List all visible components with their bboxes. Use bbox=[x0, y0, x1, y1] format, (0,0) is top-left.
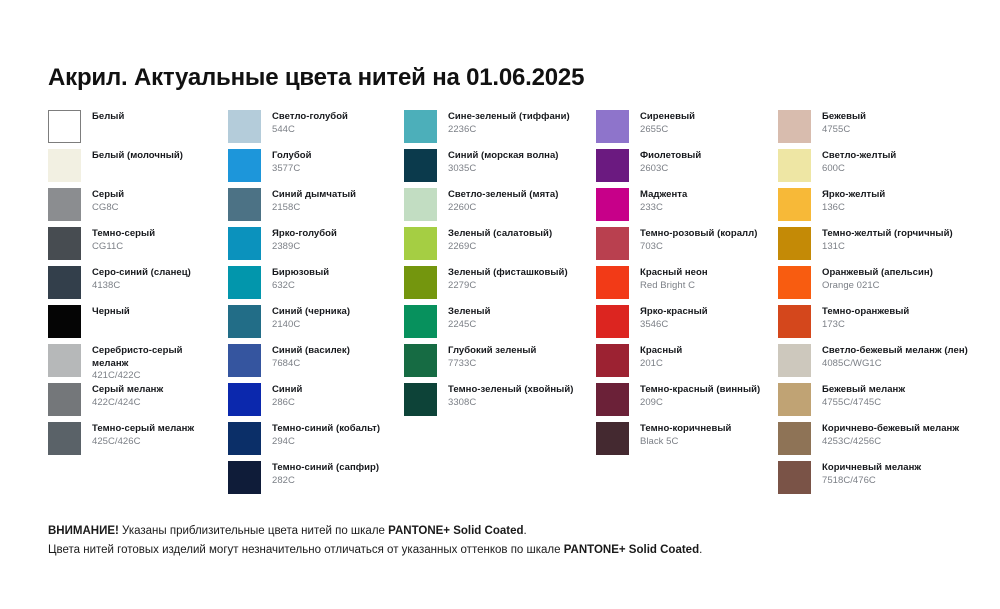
swatch-name: Фиолетовый bbox=[640, 150, 701, 163]
swatch-pantone-code: 4755C bbox=[822, 124, 866, 137]
swatch-name: Бежевый меланж bbox=[822, 384, 905, 397]
swatch-name: Ярко-голубой bbox=[272, 228, 337, 241]
swatch-name: Зеленый (фисташковый) bbox=[448, 267, 568, 280]
swatch-row[interactable]: Серо-синий (сланец)4138C bbox=[48, 266, 228, 305]
swatch-row[interactable]: Темно-серый меланж425C/426C bbox=[48, 422, 228, 461]
swatch-text: Синий дымчатый2158C bbox=[272, 188, 356, 214]
swatch-row[interactable]: Красный неонRed Bright C bbox=[596, 266, 778, 305]
color-chip[interactable] bbox=[596, 266, 629, 299]
swatch-name: Синий дымчатый bbox=[272, 189, 356, 202]
swatch-name: Темно-оранжевый bbox=[822, 306, 909, 319]
swatch-row[interactable]: Бирюзовый632C bbox=[228, 266, 404, 305]
swatch-text: Темно-желтый (горчичный)131C bbox=[822, 227, 953, 253]
swatch-row[interactable]: Голубой3577C bbox=[228, 149, 404, 188]
color-chip[interactable] bbox=[228, 149, 261, 182]
column-greens: Сине-зеленый (тиффани)2236CСиний (морска… bbox=[404, 110, 596, 422]
swatch-text: Черный bbox=[92, 305, 130, 319]
color-chip[interactable] bbox=[48, 149, 81, 182]
swatch-row[interactable]: Сине-зеленый (тиффани)2236C bbox=[404, 110, 596, 149]
swatch-text: Коричневый меланж7518C/476C bbox=[822, 461, 921, 487]
swatch-pantone-code: 2158C bbox=[272, 202, 356, 215]
color-chip[interactable] bbox=[48, 266, 81, 299]
swatch-name: Красный неон bbox=[640, 267, 708, 280]
swatch-pantone-code: CG8C bbox=[92, 202, 124, 215]
swatch-text: Темно-серый меланж425C/426C bbox=[92, 422, 194, 448]
swatch-text: Ярко-голубой2389C bbox=[272, 227, 337, 253]
swatch-row[interactable]: Коричневый меланж7518C/476C bbox=[778, 461, 988, 500]
swatch-row[interactable]: Бежевый меланж4755C/4745C bbox=[778, 383, 988, 422]
swatch-name: Серый bbox=[92, 189, 124, 202]
color-chip[interactable] bbox=[404, 110, 437, 143]
swatch-name: Темно-синий (сапфир) bbox=[272, 462, 379, 475]
swatch-row[interactable]: Красный201C bbox=[596, 344, 778, 383]
color-chip[interactable] bbox=[48, 305, 81, 338]
swatch-name: Коричневый меланж bbox=[822, 462, 921, 475]
swatch-pantone-code: 2655C bbox=[640, 124, 695, 137]
color-chip[interactable] bbox=[596, 344, 629, 377]
swatch-pantone-code: 544C bbox=[272, 124, 348, 137]
swatch-row[interactable]: СерыйCG8C bbox=[48, 188, 228, 227]
swatch-text: Белый (молочный) bbox=[92, 149, 183, 163]
swatch-text: Синий (черника)2140C bbox=[272, 305, 350, 331]
swatch-row[interactable]: Темно-желтый (горчичный)131C bbox=[778, 227, 988, 266]
color-chip[interactable] bbox=[48, 422, 81, 455]
color-chip[interactable] bbox=[778, 110, 811, 143]
swatch-name: Темно-желтый (горчичный) bbox=[822, 228, 953, 241]
swatch-pantone-code: Red Bright C bbox=[640, 280, 708, 293]
disclaimer-line-1-text: Указаны приблизительные цвета нитей по ш… bbox=[119, 525, 388, 537]
color-chip[interactable] bbox=[778, 149, 811, 182]
swatch-text: Белый bbox=[92, 110, 124, 124]
swatch-row[interactable]: Ярко-желтый136C bbox=[778, 188, 988, 227]
color-chip[interactable] bbox=[778, 422, 811, 455]
swatch-text: Бежевый меланж4755C/4745C bbox=[822, 383, 905, 409]
swatch-pantone-code: 421C/422C bbox=[92, 370, 183, 383]
color-chip[interactable] bbox=[778, 344, 811, 377]
swatch-row[interactable]: Темно-серыйCG11C bbox=[48, 227, 228, 266]
color-chip[interactable] bbox=[596, 188, 629, 221]
swatch-pantone-code: 4253C/4256C bbox=[822, 436, 959, 449]
swatch-name: Сине-зеленый (тиффани) bbox=[448, 111, 570, 124]
column-purples-reds: Сиреневый2655CФиолетовый2603CМаджента233… bbox=[596, 110, 778, 461]
swatch-row[interactable]: Темно-оранжевый173C bbox=[778, 305, 988, 344]
disclaimer-line-2-text: Цвета нитей готовых изделий могут незнач… bbox=[48, 544, 564, 556]
swatch-name: Темно-синий (кобальт) bbox=[272, 423, 380, 436]
swatch-text: Темно-серыйCG11C bbox=[92, 227, 155, 253]
color-chip[interactable] bbox=[778, 383, 811, 416]
swatch-name: Синий bbox=[272, 384, 302, 397]
swatch-pantone-code: 703C bbox=[640, 241, 757, 254]
color-chip[interactable] bbox=[778, 227, 811, 260]
swatch-pantone-code: 2236C bbox=[448, 124, 570, 137]
swatch-text: Темно-красный (винный)209C bbox=[640, 383, 760, 409]
color-chip[interactable] bbox=[404, 383, 437, 416]
swatch-text: Темно-оранжевый173C bbox=[822, 305, 909, 331]
swatch-name: Синий (морская волна) bbox=[448, 150, 559, 163]
color-chip[interactable] bbox=[48, 344, 81, 377]
color-chip[interactable] bbox=[778, 266, 811, 299]
column-blues: Светло-голубой544CГолубой3577CСиний дымч… bbox=[228, 110, 404, 500]
swatch-text: Ярко-желтый136C bbox=[822, 188, 885, 214]
color-chip[interactable] bbox=[228, 266, 261, 299]
swatch-text: Зеленый2245C bbox=[448, 305, 490, 331]
swatch-pantone-code: 4755C/4745C bbox=[822, 397, 905, 410]
swatch-name: Коричнево-бежевый меланж bbox=[822, 423, 959, 436]
color-chip[interactable] bbox=[228, 110, 261, 143]
swatch-pantone-code: 422C/424C bbox=[92, 397, 163, 410]
swatch-row[interactable]: Темно-синий (сапфир)282C bbox=[228, 461, 404, 500]
color-chip[interactable] bbox=[228, 305, 261, 338]
swatch-text: Глубокий зеленый7733C bbox=[448, 344, 536, 370]
swatch-pantone-code: 201C bbox=[640, 358, 682, 371]
swatch-pantone-code: Black 5C bbox=[640, 436, 731, 449]
swatch-row[interactable]: Ярко-голубой2389C bbox=[228, 227, 404, 266]
color-chip[interactable] bbox=[228, 461, 261, 494]
swatch-row[interactable]: Синий286C bbox=[228, 383, 404, 422]
swatch-row[interactable]: Белый (молочный) bbox=[48, 149, 228, 188]
swatch-row[interactable]: Ярко-красный3546C bbox=[596, 305, 778, 344]
color-chip[interactable] bbox=[404, 305, 437, 338]
swatch-text: Светло-бежевый меланж (лен)4085C/WG1C bbox=[822, 344, 968, 370]
swatch-pantone-code: 173C bbox=[822, 319, 909, 332]
color-chip[interactable] bbox=[48, 383, 81, 416]
swatch-name: Зеленый bbox=[448, 306, 490, 319]
swatch-text: Зеленый (фисташковый)2279C bbox=[448, 266, 568, 292]
swatch-name: Ярко-желтый bbox=[822, 189, 885, 202]
swatch-pantone-code: 425C/426C bbox=[92, 436, 194, 449]
swatch-text: Бирюзовый632C bbox=[272, 266, 329, 292]
swatch-text: Красный201C bbox=[640, 344, 682, 370]
swatch-row[interactable]: Фиолетовый2603C bbox=[596, 149, 778, 188]
swatch-pantone-code: 2260C bbox=[448, 202, 558, 215]
swatch-text: Сине-зеленый (тиффани)2236C bbox=[448, 110, 570, 136]
swatch-name: Черный bbox=[92, 306, 130, 319]
swatch-text: Светло-желтый600C bbox=[822, 149, 896, 175]
attention-label: ВНИМАНИЕ! bbox=[48, 525, 119, 537]
color-chip[interactable] bbox=[596, 110, 629, 143]
swatch-row[interactable]: Зеленый (фисташковый)2279C bbox=[404, 266, 596, 305]
swatch-name: Глубокий зеленый bbox=[448, 345, 536, 358]
swatch-name: Темно-коричневый bbox=[640, 423, 731, 436]
swatch-row[interactable]: Сиреневый2655C bbox=[596, 110, 778, 149]
swatch-pantone-code: 2245C bbox=[448, 319, 490, 332]
swatch-row[interactable]: Серебристо-серый меланж421C/422C bbox=[48, 344, 228, 383]
color-chip[interactable] bbox=[48, 227, 81, 260]
swatch-name: Бирюзовый bbox=[272, 267, 329, 280]
swatch-pantone-code: 294C bbox=[272, 436, 380, 449]
swatch-pantone-code: 2140C bbox=[272, 319, 350, 332]
disclaimer-line-1-end: . bbox=[524, 525, 527, 537]
color-chip[interactable] bbox=[596, 305, 629, 338]
swatch-name: Серый меланж bbox=[92, 384, 163, 397]
swatch-name: Голубой bbox=[272, 150, 312, 163]
swatch-name: Маджента bbox=[640, 189, 687, 202]
swatch-pantone-code: 4085C/WG1C bbox=[822, 358, 968, 371]
swatch-row[interactable]: Темно-красный (винный)209C bbox=[596, 383, 778, 422]
swatch-row[interactable]: Светло-голубой544C bbox=[228, 110, 404, 149]
swatch-pantone-code: 2279C bbox=[448, 280, 568, 293]
color-chip[interactable] bbox=[596, 227, 629, 260]
swatch-pantone-code: 2603C bbox=[640, 163, 701, 176]
swatch-pantone-code: 7733C bbox=[448, 358, 536, 371]
disclaimer-line-2-end: . bbox=[699, 544, 702, 556]
swatch-row[interactable]: Оранжевый (апельсин)Orange 021C bbox=[778, 266, 988, 305]
swatch-name: Темно-серый bbox=[92, 228, 155, 241]
disclaimer-line-1: ВНИМАНИЕ! Указаны приблизительные цвета … bbox=[48, 522, 958, 541]
swatch-row[interactable]: Светло-бежевый меланж (лен)4085C/WG1C bbox=[778, 344, 988, 383]
pantone-scale-label-2: PANTONE+ Solid Coated bbox=[564, 544, 699, 556]
swatch-text: Синий (василек)7684C bbox=[272, 344, 350, 370]
swatch-text: Ярко-красный3546C bbox=[640, 305, 708, 331]
swatch-text: Темно-синий (кобальт)294C bbox=[272, 422, 380, 448]
swatch-text: Серый меланж422C/424C bbox=[92, 383, 163, 409]
swatch-text: Темно-розовый (коралл)703C bbox=[640, 227, 757, 253]
swatch-text: Светло-зеленый (мята)2260C bbox=[448, 188, 558, 214]
swatch-name: Темно-серый меланж bbox=[92, 423, 194, 436]
swatch-row[interactable]: Зеленый (салатовый)2269C bbox=[404, 227, 596, 266]
disclaimer-line-2: Цвета нитей готовых изделий могут незнач… bbox=[48, 541, 958, 560]
color-chip[interactable] bbox=[596, 149, 629, 182]
swatch-text: Оранжевый (апельсин)Orange 021C bbox=[822, 266, 933, 292]
swatch-name: Ярко-красный bbox=[640, 306, 708, 319]
swatch-row[interactable]: Темно-коричневыйBlack 5C bbox=[596, 422, 778, 461]
swatch-row[interactable]: Синий (черника)2140C bbox=[228, 305, 404, 344]
swatch-name: Светло-голубой bbox=[272, 111, 348, 124]
swatch-pantone-code: 3546C bbox=[640, 319, 708, 332]
color-chip[interactable] bbox=[778, 461, 811, 494]
color-chip[interactable] bbox=[778, 188, 811, 221]
color-chip[interactable] bbox=[596, 422, 629, 455]
swatch-pantone-code: 4138C bbox=[92, 280, 191, 293]
swatch-name: Синий (черника) bbox=[272, 306, 350, 319]
swatch-text: Фиолетовый2603C bbox=[640, 149, 701, 175]
swatch-text: Коричнево-бежевый меланж4253C/4256C bbox=[822, 422, 959, 448]
swatch-row[interactable]: Темно-зеленый (хвойный)3308C bbox=[404, 383, 596, 422]
swatch-name: Сиреневый bbox=[640, 111, 695, 124]
swatch-pantone-code: 286C bbox=[272, 397, 302, 410]
swatch-name: Синий (василек) bbox=[272, 345, 350, 358]
swatch-text: Светло-голубой544C bbox=[272, 110, 348, 136]
swatch-text: Бежевый4755C bbox=[822, 110, 866, 136]
swatch-name: Светло-зеленый (мята) bbox=[448, 189, 558, 202]
swatch-row[interactable]: Синий (морская волна)3035C bbox=[404, 149, 596, 188]
swatch-text: Серебристо-серый меланж421C/422C bbox=[92, 344, 183, 383]
swatch-row[interactable]: Черный bbox=[48, 305, 228, 344]
color-chip[interactable] bbox=[228, 344, 261, 377]
swatch-name: Светло-бежевый меланж (лен) bbox=[822, 345, 968, 358]
swatch-row[interactable]: Синий (василек)7684C bbox=[228, 344, 404, 383]
swatch-pantone-code: 3035C bbox=[448, 163, 559, 176]
swatch-text: Зеленый (салатовый)2269C bbox=[448, 227, 552, 253]
swatch-text: Серо-синий (сланец)4138C bbox=[92, 266, 191, 292]
column-warm-neutrals: Бежевый4755CСветло-желтый600CЯрко-желтый… bbox=[778, 110, 988, 500]
swatch-row[interactable]: Синий дымчатый2158C bbox=[228, 188, 404, 227]
swatch-text: Голубой3577C bbox=[272, 149, 312, 175]
swatch-pantone-code: 3308C bbox=[448, 397, 573, 410]
color-chip[interactable] bbox=[404, 188, 437, 221]
swatch-row[interactable]: Маджента233C bbox=[596, 188, 778, 227]
swatch-row[interactable]: Темно-синий (кобальт)294C bbox=[228, 422, 404, 461]
swatch-name: Темно-розовый (коралл) bbox=[640, 228, 757, 241]
swatch-pantone-code: 2389C bbox=[272, 241, 337, 254]
color-chip[interactable] bbox=[48, 188, 81, 221]
disclaimer-note: ВНИМАНИЕ! Указаны приблизительные цвета … bbox=[48, 522, 958, 560]
swatch-text: СерыйCG8C bbox=[92, 188, 124, 214]
swatch-text: Синий (морская волна)3035C bbox=[448, 149, 559, 175]
color-chip[interactable] bbox=[228, 422, 261, 455]
swatch-row[interactable]: Коричнево-бежевый меланж4253C/4256C bbox=[778, 422, 988, 461]
swatch-text: Синий286C bbox=[272, 383, 302, 409]
swatch-pantone-code: CG11C bbox=[92, 241, 155, 254]
swatch-text: Темно-синий (сапфир)282C bbox=[272, 461, 379, 487]
color-chip[interactable] bbox=[228, 188, 261, 221]
swatch-row[interactable]: Бежевый4755C bbox=[778, 110, 988, 149]
color-chip[interactable] bbox=[228, 383, 261, 416]
swatch-text: Темно-зеленый (хвойный)3308C bbox=[448, 383, 573, 409]
swatch-pantone-code: 600C bbox=[822, 163, 896, 176]
swatch-row[interactable]: Светло-желтый600C bbox=[778, 149, 988, 188]
color-chip[interactable] bbox=[778, 305, 811, 338]
swatch-name: Белый bbox=[92, 111, 124, 124]
swatch-row[interactable]: Серый меланж422C/424C bbox=[48, 383, 228, 422]
pantone-scale-label-1: PANTONE+ Solid Coated bbox=[388, 525, 523, 537]
swatch-name: Серебристо-серый меланж bbox=[92, 345, 183, 370]
swatch-name: Темно-зеленый (хвойный) bbox=[448, 384, 573, 397]
color-chip[interactable] bbox=[404, 266, 437, 299]
swatch-text: Темно-коричневыйBlack 5C bbox=[640, 422, 731, 448]
swatch-text: Сиреневый2655C bbox=[640, 110, 695, 136]
swatch-pantone-code: 7518C/476C bbox=[822, 475, 921, 488]
swatch-row[interactable]: Темно-розовый (коралл)703C bbox=[596, 227, 778, 266]
swatch-name: Бежевый bbox=[822, 111, 866, 124]
swatch-name: Светло-желтый bbox=[822, 150, 896, 163]
swatch-row[interactable]: Светло-зеленый (мята)2260C bbox=[404, 188, 596, 227]
color-chip[interactable] bbox=[228, 227, 261, 260]
swatch-pantone-code: Orange 021C bbox=[822, 280, 933, 293]
swatch-pantone-code: 3577C bbox=[272, 163, 312, 176]
swatch-pantone-code: 632C bbox=[272, 280, 329, 293]
swatch-name: Серо-синий (сланец) bbox=[92, 267, 191, 280]
swatch-pantone-code: 136C bbox=[822, 202, 885, 215]
color-chip[interactable] bbox=[404, 344, 437, 377]
swatch-name: Зеленый (салатовый) bbox=[448, 228, 552, 241]
swatch-pantone-code: 7684C bbox=[272, 358, 350, 371]
color-chip[interactable] bbox=[404, 149, 437, 182]
swatch-name: Темно-красный (винный) bbox=[640, 384, 760, 397]
column-neutrals: БелыйБелый (молочный)СерыйCG8CТемно-серы… bbox=[48, 110, 228, 461]
swatch-name: Красный bbox=[640, 345, 682, 358]
color-swatch-grid: БелыйБелый (молочный)СерыйCG8CТемно-серы… bbox=[0, 110, 1000, 500]
color-chip[interactable] bbox=[596, 383, 629, 416]
swatch-pantone-code: 209C bbox=[640, 397, 760, 410]
swatch-text: Маджента233C bbox=[640, 188, 687, 214]
swatch-row[interactable]: Зеленый2245C bbox=[404, 305, 596, 344]
swatch-pantone-code: 2269C bbox=[448, 241, 552, 254]
page-title: Акрил. Актуальные цвета нитей на 01.06.2… bbox=[48, 64, 584, 92]
swatch-name: Белый (молочный) bbox=[92, 150, 183, 163]
color-chip[interactable] bbox=[404, 227, 437, 260]
swatch-text: Красный неонRed Bright C bbox=[640, 266, 708, 292]
swatch-pantone-code: 282C bbox=[272, 475, 379, 488]
swatch-row[interactable]: Глубокий зеленый7733C bbox=[404, 344, 596, 383]
swatch-pantone-code: 233C bbox=[640, 202, 687, 215]
swatch-pantone-code: 131C bbox=[822, 241, 953, 254]
swatch-name: Оранжевый (апельсин) bbox=[822, 267, 933, 280]
color-chip[interactable] bbox=[48, 110, 81, 143]
swatch-row[interactable]: Белый bbox=[48, 110, 228, 149]
